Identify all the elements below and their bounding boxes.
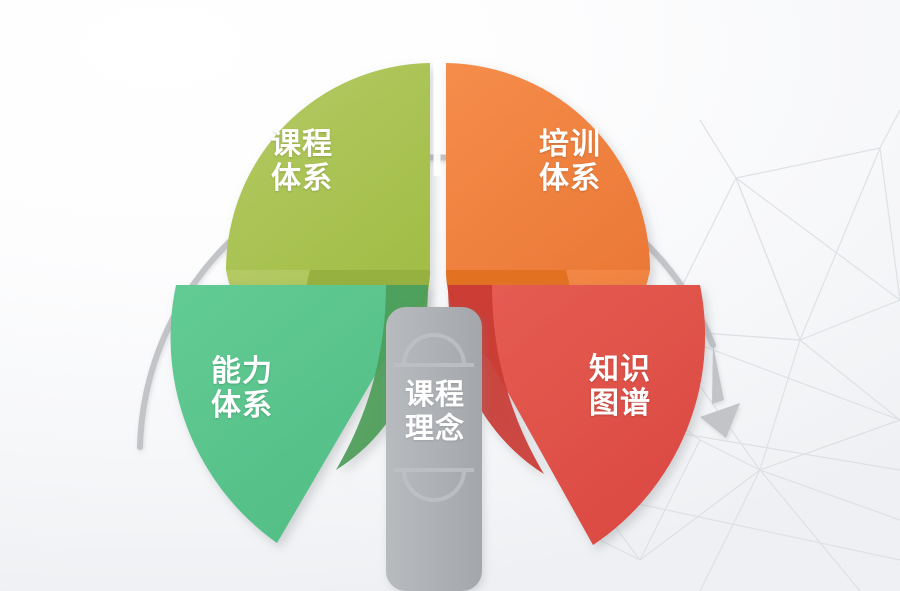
- petal-knowledge-map: [448, 285, 705, 545]
- diagram-canvas: 课程 体系 培训 体系 能力 体系 知识 图谱 课程 理念: [0, 0, 900, 591]
- petal-wheel-graphic: [0, 0, 900, 591]
- center-pillar: [386, 307, 482, 591]
